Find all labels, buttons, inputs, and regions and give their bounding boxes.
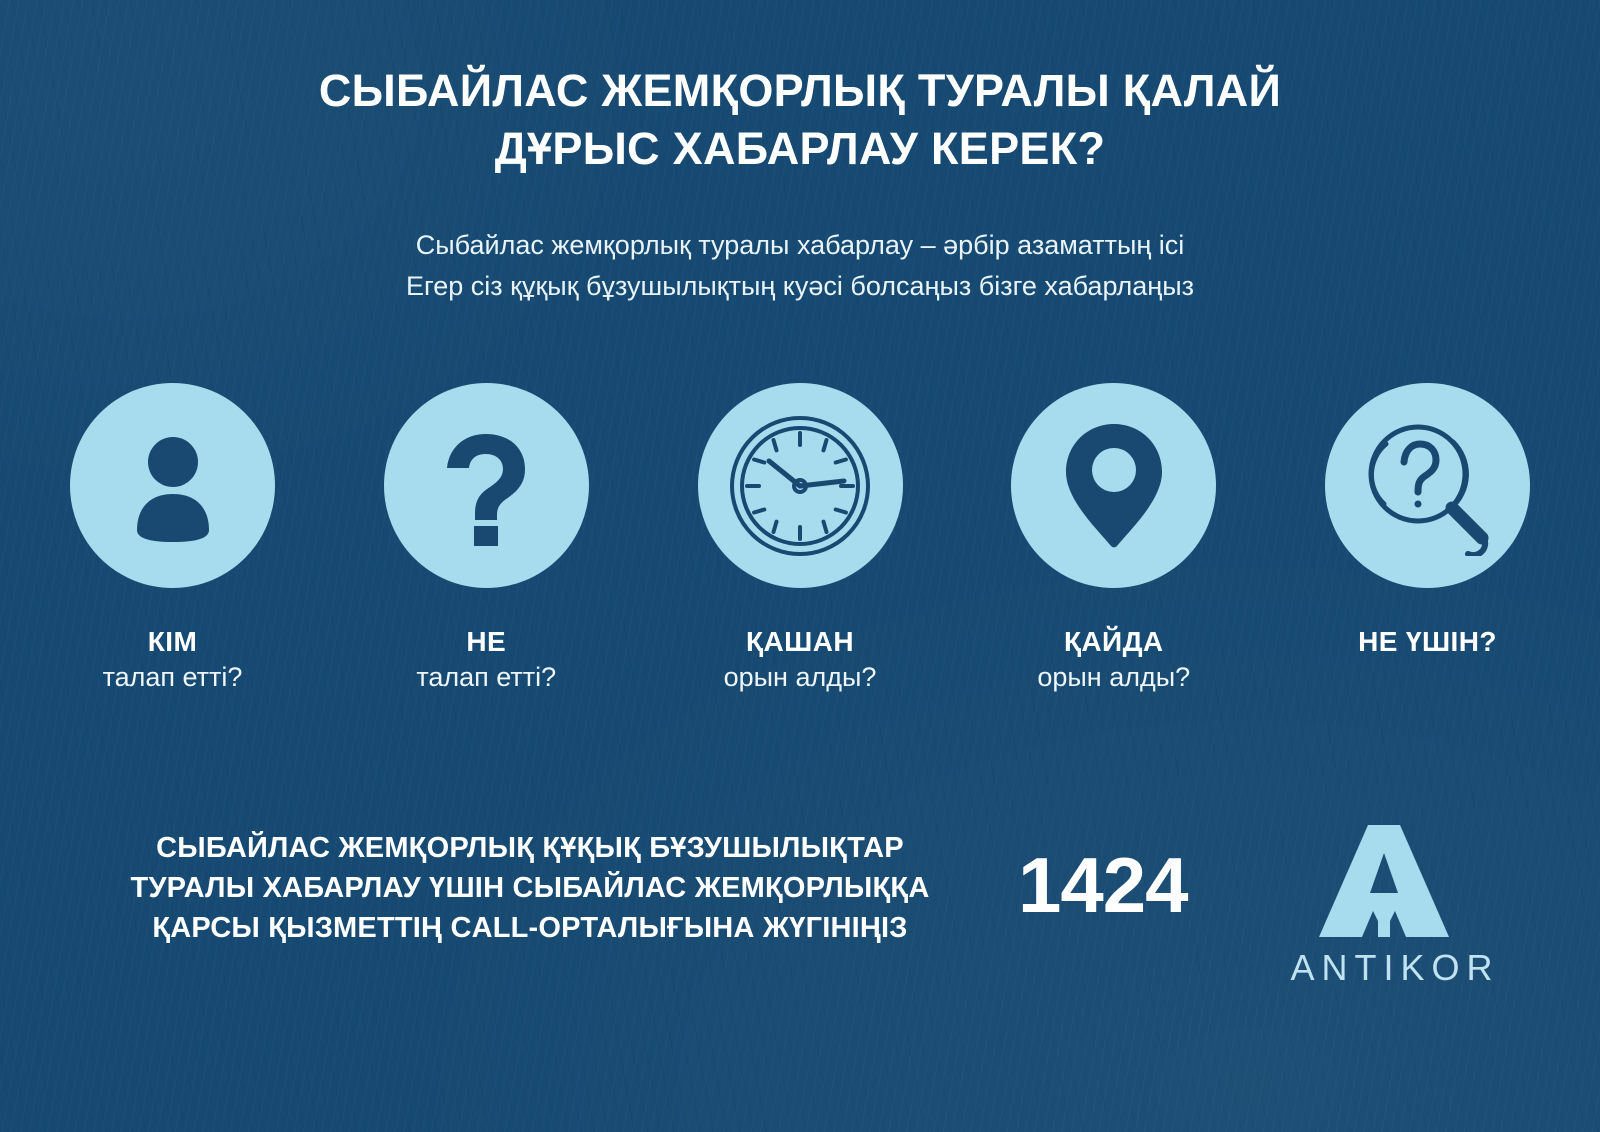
- question-mark-icon: [426, 426, 546, 546]
- label-sub-when: орын алды?: [724, 659, 877, 695]
- clock-icon: [725, 411, 875, 561]
- icon-circle-when: [698, 383, 903, 588]
- page-footer: СЫБАЙЛАС ЖЕМҚОРЛЫҚ ҚҰҚЫҚ БҰЗУШЫЛЫҚТАР ТУ…: [0, 828, 1600, 989]
- page-title-line-2: ДҰРЫС ХАБАРЛАУ КЕРЕК?: [0, 120, 1600, 178]
- question-item-what: НЕ талап етті?: [384, 383, 589, 693]
- icon-circle-where: [1011, 383, 1216, 588]
- subtitle-line-2: Егер сіз құқық бұзушылықтың куәсі болсаң…: [0, 266, 1600, 307]
- person-icon: [113, 426, 233, 546]
- page-subtitle: Сыбайлас жемқорлық туралы хабарлау – әрб…: [0, 225, 1600, 307]
- footer-instruction-text: СЫБАЙЛАС ЖЕМҚОРЛЫҚ ҚҰҚЫҚ БҰЗУШЫЛЫҚТАР ТУ…: [0, 828, 1000, 948]
- label-main-why: НЕ ҮШІН?: [1358, 625, 1497, 659]
- label-main-who: КІМ: [103, 625, 243, 659]
- icon-circle-why: [1325, 383, 1530, 588]
- label-block-who: КІМ талап етті?: [103, 625, 243, 695]
- page-header: СЫБАЙЛАС ЖЕМҚОРЛЫҚ ТУРАЛЫ ҚАЛАЙ ДҰРЫС ХА…: [0, 62, 1600, 178]
- question-icon-row: КІМ талап етті? НЕ талап етті?: [70, 383, 1530, 693]
- infographic-page: СЫБАЙЛАС ЖЕМҚОРЛЫҚ ТУРАЛЫ ҚАЛАЙ ДҰРЫС ХА…: [0, 0, 1600, 1132]
- footer-line-3: ҚАРСЫ ҚЫЗМЕТТІҢ CALL-ОРТАЛЫҒЫНА ЖҮГІНІҢІ…: [60, 908, 1000, 948]
- subtitle-line-1: Сыбайлас жемқорлық туралы хабарлау – әрб…: [0, 225, 1600, 266]
- footer-line-2: ТУРАЛЫ ХАБАРЛАУ ҮШІН СЫБАЙЛАС ЖЕМҚОРЛЫҚҚ…: [60, 868, 1000, 908]
- antikor-logo-mark: [1318, 823, 1450, 939]
- page-title-line-1: СЫБАЙЛАС ЖЕМҚОРЛЫҚ ТУРАЛЫ ҚАЛАЙ: [0, 62, 1600, 120]
- location-pin-icon: [1054, 418, 1174, 553]
- antikor-logo: ANTIKOR: [1284, 823, 1484, 989]
- question-item-why: НЕ ҮШІН?: [1325, 383, 1530, 693]
- label-block-where: ҚАЙДА орын алды?: [1037, 625, 1190, 695]
- footer-line-1: СЫБАЙЛАС ЖЕМҚОРЛЫҚ ҚҰҚЫҚ БҰЗУШЫЛЫҚТАР: [60, 828, 1000, 868]
- label-main-when: ҚАШАН: [724, 625, 877, 659]
- icon-circle-what: [384, 383, 589, 588]
- question-item-when: ҚАШАН орын алды?: [698, 383, 903, 693]
- hotline-number: 1424: [1018, 844, 1188, 926]
- label-sub-what: талап етті?: [416, 659, 556, 695]
- label-main-where: ҚАЙДА: [1037, 625, 1190, 659]
- antikor-wordmark: ANTIKOR: [1284, 947, 1484, 989]
- label-block-when: ҚАШАН орын алды?: [724, 625, 877, 695]
- label-block-why: НЕ ҮШІН?: [1358, 625, 1497, 659]
- question-item-who: КІМ талап етті?: [70, 383, 275, 693]
- icon-circle-who: [70, 383, 275, 588]
- magnifier-question-icon: [1358, 416, 1498, 556]
- label-main-what: НЕ: [416, 625, 556, 659]
- label-sub-where: орын алды?: [1037, 659, 1190, 695]
- label-block-what: НЕ талап етті?: [416, 625, 556, 695]
- label-sub-who: талап етті?: [103, 659, 243, 695]
- question-item-where: ҚАЙДА орын алды?: [1011, 383, 1216, 693]
